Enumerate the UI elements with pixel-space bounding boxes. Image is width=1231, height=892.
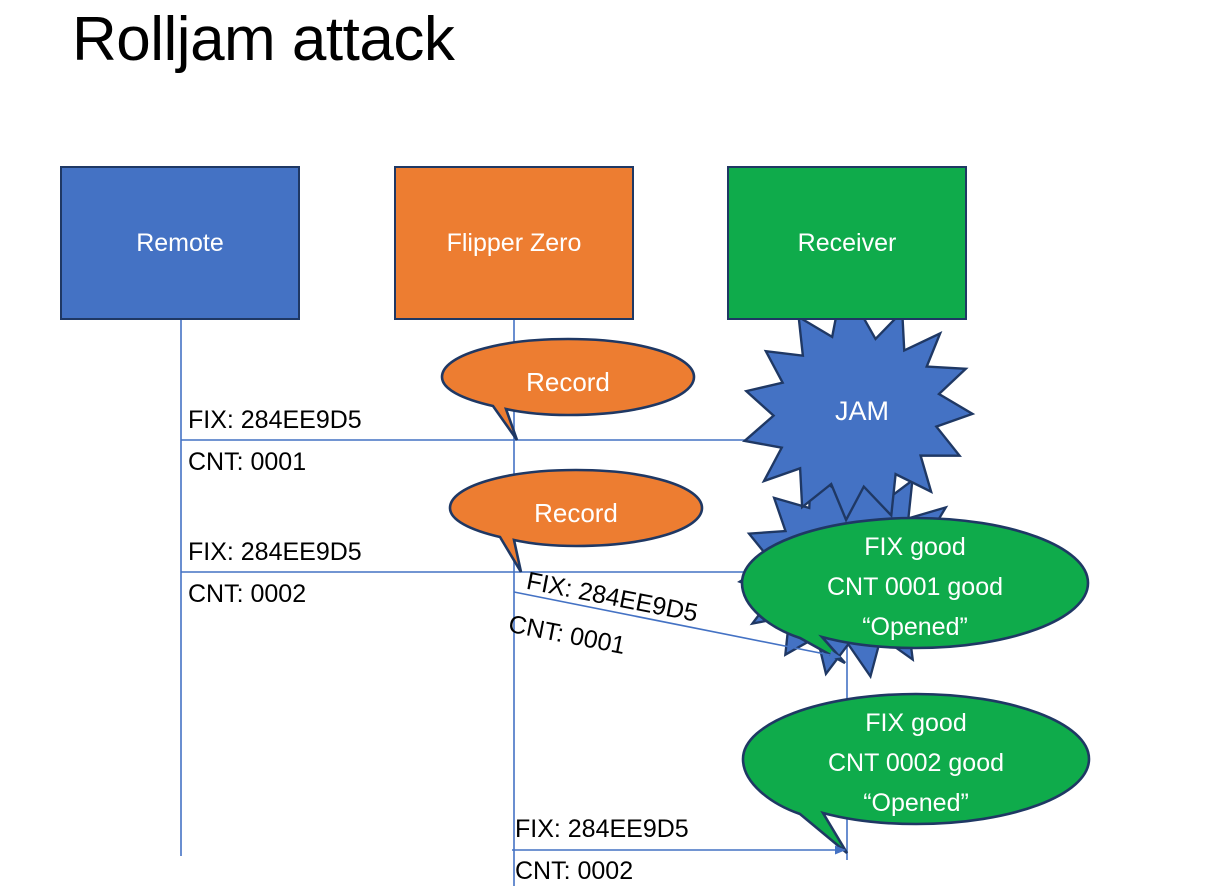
diagram-vector-layer xyxy=(0,0,1231,892)
callout-record1 xyxy=(442,339,694,440)
message-label-msg4-line1: FIX: 284EE9D5 xyxy=(515,814,689,845)
message-label-msg4-line2: CNT: 0002 xyxy=(515,856,633,887)
actor-box-receiver[interactable]: Receiver xyxy=(727,166,967,320)
starburst-jam1 xyxy=(738,295,978,525)
callout-ok2 xyxy=(743,694,1089,853)
actor-box-flipper-zero[interactable]: Flipper Zero xyxy=(394,166,634,320)
message-label-msg1-line1: FIX: 284EE9D5 xyxy=(188,405,362,436)
actor-label-flipper-zero: Flipper Zero xyxy=(447,229,582,258)
message-label-msg2-line1: FIX: 284EE9D5 xyxy=(188,537,362,568)
actor-box-remote[interactable]: Remote xyxy=(60,166,300,320)
slide-canvas: Rolljam attack xyxy=(0,0,1231,892)
callout-record2 xyxy=(450,470,702,572)
actor-label-remote: Remote xyxy=(136,229,224,258)
actor-label-receiver: Receiver xyxy=(798,229,897,258)
message-label-msg1-line2: CNT: 0001 xyxy=(188,447,306,478)
message-label-msg2-line2: CNT: 0002 xyxy=(188,579,306,610)
